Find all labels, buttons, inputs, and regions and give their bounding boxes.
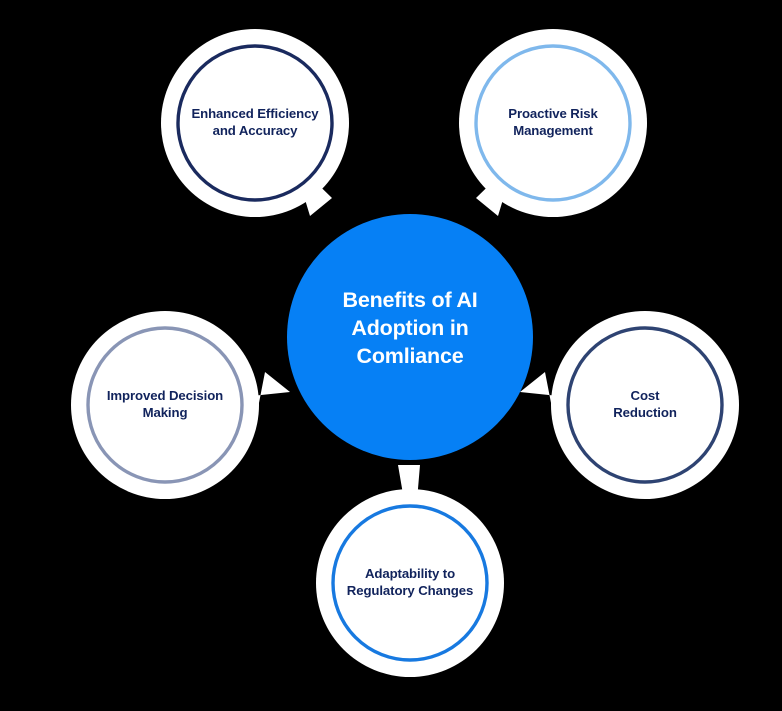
node-label-proactive-risk-management: Proactive Risk Management bbox=[463, 106, 643, 140]
diagram-canvas: Enhanced Efficiency and Accuracy Proacti… bbox=[0, 0, 782, 711]
center-hub-label: Benefits of AI Adoption in Comliance bbox=[300, 287, 520, 371]
node-label-cost-reduction: Cost Reduction bbox=[555, 388, 735, 422]
node-label-improved-decision-making: Improved Decision Making bbox=[75, 388, 255, 422]
node-label-adaptability-to-regulatory-changes: Adaptability to Regulatory Changes bbox=[320, 566, 500, 600]
node-label-enhanced-efficiency-and-accuracy: Enhanced Efficiency and Accuracy bbox=[165, 106, 345, 140]
